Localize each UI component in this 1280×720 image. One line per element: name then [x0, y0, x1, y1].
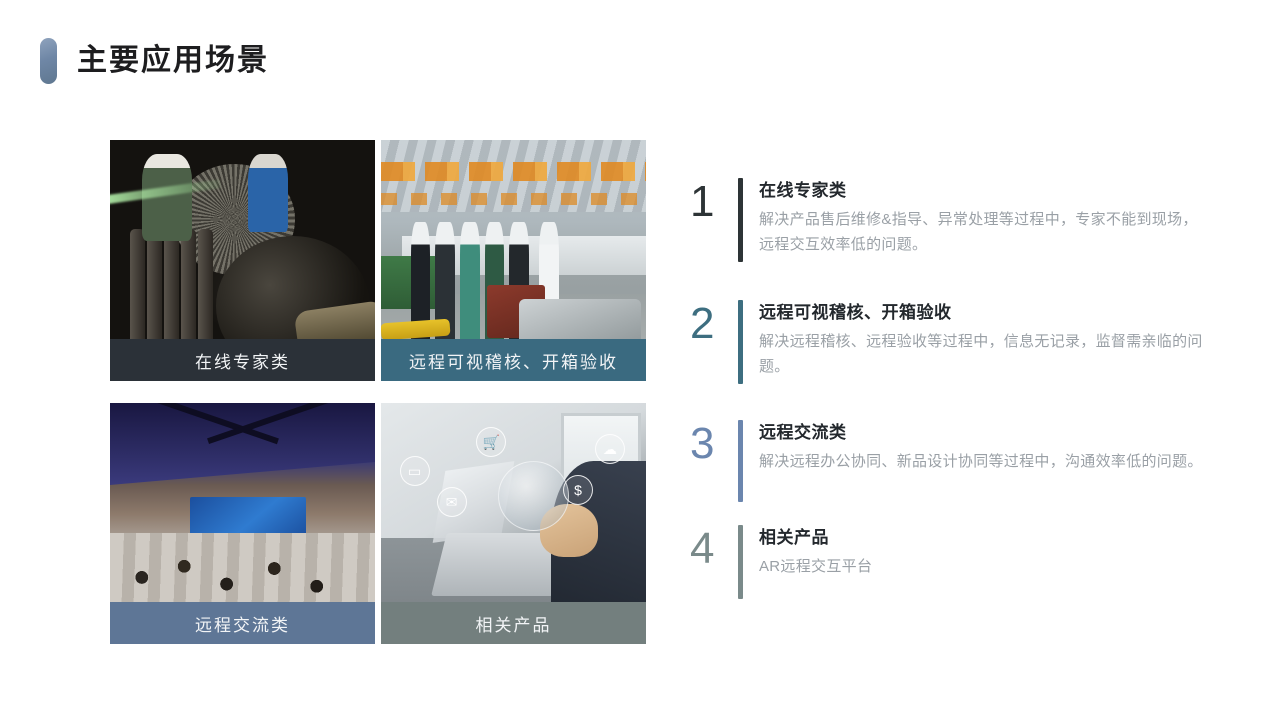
gallery-caption: 在线专家类 — [110, 339, 375, 381]
page-title-text: 主要应用场景 — [77, 46, 269, 76]
list-item-number: 2 — [690, 300, 738, 348]
cloud-icon: ☁ — [595, 434, 625, 464]
title-pill-icon — [40, 38, 57, 84]
list-item[interactable]: 2 远程可视稽核、开箱验收 解决远程稽核、远程验收等过程中，信息无记录，监督需亲… — [690, 300, 1210, 420]
list-item-description: AR远程交互平台 — [759, 555, 1210, 579]
monitor-icon: ▭ — [400, 456, 430, 486]
list-item-heading: 相关产品 — [759, 528, 1210, 548]
list-item-description: 解决远程办公协同、新品设计协同等过程中，沟通效率低的问题。 — [759, 450, 1210, 474]
list-item-accent-bar — [738, 420, 743, 502]
scenario-list: 1 在线专家类 解决产品售后维修&指导、异常处理等过程中，专家不能到现场，远程交… — [690, 178, 1210, 625]
list-item[interactable]: 4 相关产品 AR远程交互平台 — [690, 525, 1210, 625]
list-item-accent-bar — [738, 300, 743, 384]
list-item-heading: 在线专家类 — [759, 181, 1210, 201]
image-gallery: 在线专家类 远程可视稽核、开箱验收 — [110, 140, 646, 644]
list-item-heading: 远程交流类 — [759, 423, 1210, 443]
gallery-tile-online-expert[interactable]: 在线专家类 — [110, 140, 375, 381]
list-item-description: 解决远程稽核、远程验收等过程中，信息无记录，监督需亲临的问题。 — [759, 330, 1210, 379]
list-item[interactable]: 1 在线专家类 解决产品售后维修&指导、异常处理等过程中，专家不能到现场，远程交… — [690, 178, 1210, 300]
gallery-caption: 远程交流类 — [110, 602, 375, 644]
list-item-accent-bar — [738, 525, 743, 599]
list-item[interactable]: 3 远程交流类 解决远程办公协同、新品设计协同等过程中，沟通效率低的问题。 — [690, 420, 1210, 525]
gallery-tile-remote-audit[interactable]: 远程可视稽核、开箱验收 — [381, 140, 646, 381]
mail-icon: ✉ — [437, 487, 467, 517]
slide-root: 主要应用场景 在线专家类 — [0, 0, 1280, 720]
list-item-number: 3 — [690, 420, 738, 468]
gallery-caption: 相关产品 — [381, 602, 646, 644]
page-title: 主要应用场景 — [40, 38, 269, 84]
list-item-number: 4 — [690, 525, 738, 573]
gallery-tile-related-product[interactable]: 🛒 ✉ ☁ $ ▭ 相关产品 — [381, 403, 646, 644]
list-item-description: 解决产品售后维修&指导、异常处理等过程中，专家不能到现场，远程交互效率低的问题。 — [759, 208, 1210, 257]
cart-icon: 🛒 — [476, 427, 506, 457]
gallery-caption: 远程可视稽核、开箱验收 — [381, 339, 646, 381]
gallery-tile-remote-communication[interactable]: 远程交流类 — [110, 403, 375, 644]
list-item-heading: 远程可视稽核、开箱验收 — [759, 303, 1210, 323]
list-item-accent-bar — [738, 178, 743, 262]
list-item-number: 1 — [690, 178, 738, 226]
